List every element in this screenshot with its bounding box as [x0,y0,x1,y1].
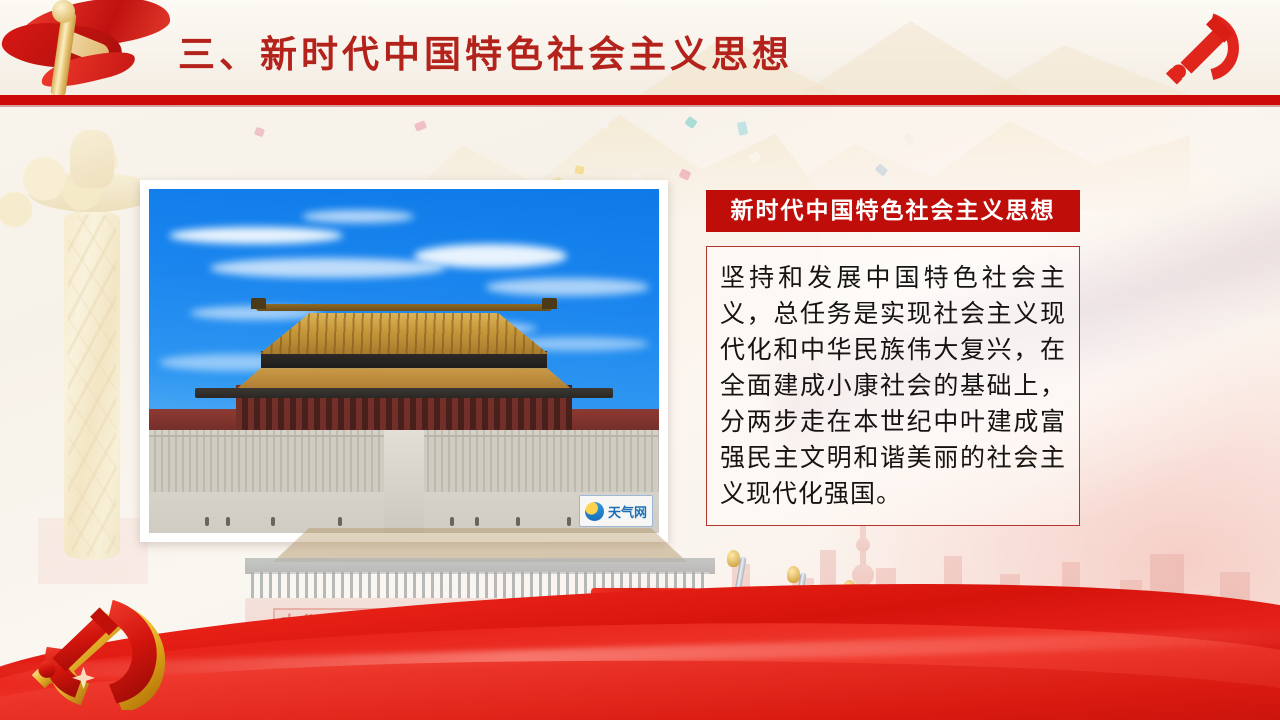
content-panel: 新时代中国特色社会主义思想 坚持和发展中国特色社会主义，总任务是实现社会主义现代… [706,190,1080,526]
bottom-decoration: 中华人民共和国万岁 ★ ★ ★ ★ ★ ★ ★ ★ ★ ★ [0,520,1280,720]
party-emblem-hammer-sickle-icon [28,595,188,710]
red-flag-icon [0,0,185,95]
panel-body-text: 坚持和发展中国特色社会主义，总任务是实现社会主义现代化和中华民族伟大复兴，在全面… [706,246,1080,526]
header-red-rule [0,95,1280,105]
confetti-piece [574,165,584,175]
confetti-piece [737,121,749,136]
panel-title: 新时代中国特色社会主义思想 [706,190,1080,232]
confetti-piece [903,133,916,147]
slide-header: 三、新时代中国特色社会主义思想 [0,0,1280,95]
forbidden-city-photo: 天气网 [149,189,659,533]
confetti-piece [875,163,889,176]
confetti-piece [598,114,611,129]
confetti-piece [542,147,556,160]
header-red-rule-shadow [0,105,1280,107]
page-title: 三、新时代中国特色社会主义思想 [178,28,938,84]
slide-root: 三、新时代中国特色社会主义思想 [0,0,1280,720]
confetti-piece [684,116,697,129]
hammer-sickle-icon [1158,8,1254,90]
forbidden-city-photo-card[interactable]: 天气网 [140,180,668,542]
confetti-piece [749,151,762,163]
weather-cloud-sun-icon [585,502,604,521]
confetti-piece [414,120,427,132]
watermark-label: 天气网 [608,502,647,521]
confetti-piece [882,177,894,190]
confetti-piece [679,168,692,180]
confetti-piece [254,127,265,137]
